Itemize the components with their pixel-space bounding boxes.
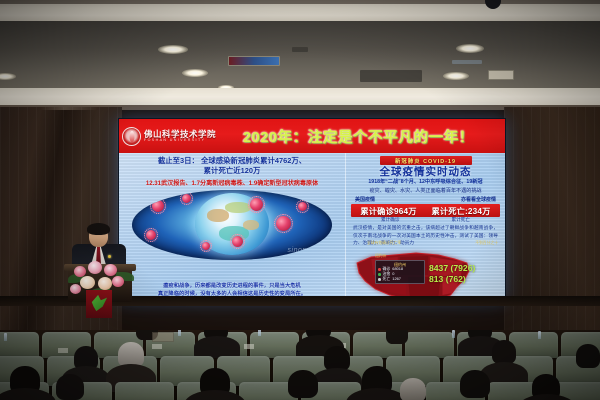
downlight-icon: [182, 69, 208, 77]
projector-icon: [228, 56, 280, 66]
led-presentation-screen[interactable]: 佛山科学技术学院 FOSHAN UNIVERSITY 2020年：注定是个不平凡…: [118, 118, 506, 302]
virus-particle-icon: [146, 230, 156, 240]
map-big-numbers: 8437 (7926) 813 (762): [429, 263, 475, 284]
right-title: 全球疫情实时动态: [349, 166, 502, 178]
virus-particle-icon: [152, 200, 164, 212]
map-bottom-label-left: 全球有效确诊死亡率: [367, 241, 401, 246]
map-bottom-label-right: 不到百分之十: [475, 241, 498, 246]
slide-title-bar: 佛山科学技术学院 FOSHAN UNIVERSITY 2020年：注定是个不平凡…: [119, 119, 505, 153]
downlight-icon: [443, 72, 469, 80]
seat: [250, 332, 299, 358]
stat-banner: 累计确诊964万 累计死亡:234万: [351, 204, 500, 217]
image-watermark: sinopedia: [288, 247, 322, 254]
ceiling-recessed-panel: [0, 21, 600, 91]
audience-head: [56, 374, 84, 400]
seat: [115, 382, 174, 400]
globe-virus-illustration: sinopedia: [132, 190, 332, 260]
slide-title: 2020年：注定是个不平凡的一年！: [216, 126, 505, 147]
ceiling-speaker-icon: [488, 70, 514, 80]
map-big-number-0: 8437 (7926): [429, 263, 475, 274]
seat: [405, 332, 454, 358]
callout-label-2: 死亡: [383, 277, 391, 282]
audience-head: [492, 340, 516, 364]
slide-content: 佛山科学技术学院 FOSHAN UNIVERSITY 2020年：注定是个不平凡…: [119, 119, 505, 301]
ceiling-vent-icon: [292, 47, 308, 52]
water-bottle-icon: [452, 330, 455, 338]
label-global-situation: 亦看看全球疫情: [461, 196, 496, 203]
wall-notice-sign: [152, 332, 174, 342]
left-headline-1: 截止至3日： 全球感染新冠肺炎累计4762万、: [122, 156, 342, 166]
university-logo: 佛山科学技术学院 FOSHAN UNIVERSITY: [122, 127, 216, 146]
downlight-icon: [158, 45, 188, 54]
callout-row: 死亡 1267: [378, 277, 422, 282]
audience-head: [576, 344, 600, 368]
auditorium-scene: 佛山科学技术学院 FOSHAN UNIVERSITY 2020年：注定是个不平凡…: [0, 0, 600, 400]
map-region-label: 纽约州: [375, 254, 386, 259]
status-dot-recovered-icon: [378, 273, 381, 276]
speaker-hair: [87, 223, 110, 235]
map-callout-panel: 纽约州 确诊 68018 治愈 0: [375, 260, 425, 284]
flame-emblem-icon: [122, 127, 141, 146]
audience-head: [288, 370, 318, 398]
stat-label-confirmed: 累计确诊: [381, 217, 399, 223]
university-name-en: FOSHAN UNIVERSITY: [144, 139, 216, 143]
ceiling-vent-icon: [452, 60, 482, 64]
virus-particle-icon: [250, 198, 263, 211]
paper-sheet: [58, 348, 68, 353]
status-dot-confirmed-icon: [378, 268, 381, 271]
audience-head-grey-hair: [400, 378, 426, 400]
virus-particle-icon: [276, 216, 291, 231]
right-label-row: 美国疫情 亦看看全球疫情: [349, 196, 502, 203]
covid-tag-badge: 新冠肺炎 COVID-19: [380, 156, 472, 165]
slide-body: 截止至3日： 全球感染新冠肺炎累计4762万、 累计死亡近120万 12.31武…: [119, 153, 505, 301]
slide-left-column: 截止至3日： 全球感染新冠肺炎累计4762万、 累计死亡近120万 12.31武…: [119, 153, 345, 301]
virus-particle-icon: [182, 194, 191, 203]
audience-area: [0, 330, 600, 400]
seat: [509, 332, 558, 358]
virus-particle-icon: [298, 202, 307, 211]
water-bottle-icon: [538, 331, 541, 339]
downlight-icon: [456, 44, 484, 53]
stat-deaths: 累计死亡:234万: [431, 205, 490, 217]
downlight-icon: [0, 73, 16, 80]
paper-sheet: [152, 344, 162, 349]
audience-head: [386, 330, 408, 344]
virus-particle-icon: [232, 236, 243, 247]
ceiling-vent-icon: [360, 70, 422, 82]
left-headline-2: 累计死亡近120万: [122, 166, 342, 176]
right-subline-1: 1918年“二战”8个月、12中东呼吸综合征、19新冠: [349, 179, 502, 187]
stat-confirmed: 累计确诊964万: [360, 205, 416, 217]
caption-line-1: 瘟疫和战争，历来都是改变历史进程的事件，只是当大危机: [123, 283, 341, 291]
water-bottle-icon: [4, 333, 7, 341]
slide-right-column: 新冠肺炎 COVID-19 全球疫情实时动态 1918年“二战”8个月、12中东…: [345, 153, 505, 301]
wall-panel-right: [504, 107, 600, 342]
virus-particle-icon: [202, 242, 210, 250]
ceiling-soffit-top: [0, 0, 600, 22]
map-big-number-1: 813 (762): [429, 274, 475, 285]
label-us-situation: 美国疫情: [355, 196, 375, 203]
water-bottle-icon: [178, 330, 181, 336]
stat-label-deaths: 累计死亡: [452, 217, 470, 223]
right-subline-2: 疫灾、蝗灾、水灾、人类正面临着百年不遇的挑战: [349, 188, 502, 196]
water-bottle-icon: [258, 330, 261, 336]
callout-value-2: 1267: [392, 277, 401, 282]
audience-head: [460, 370, 490, 398]
status-dot-deaths-icon: [378, 278, 381, 281]
audience-shoulders: [194, 336, 240, 358]
paper-sheet: [244, 344, 254, 349]
left-subline: 12.31武汉报告、1.7分离新冠病毒株、1.9确定新型冠状病毒原体: [122, 178, 342, 187]
